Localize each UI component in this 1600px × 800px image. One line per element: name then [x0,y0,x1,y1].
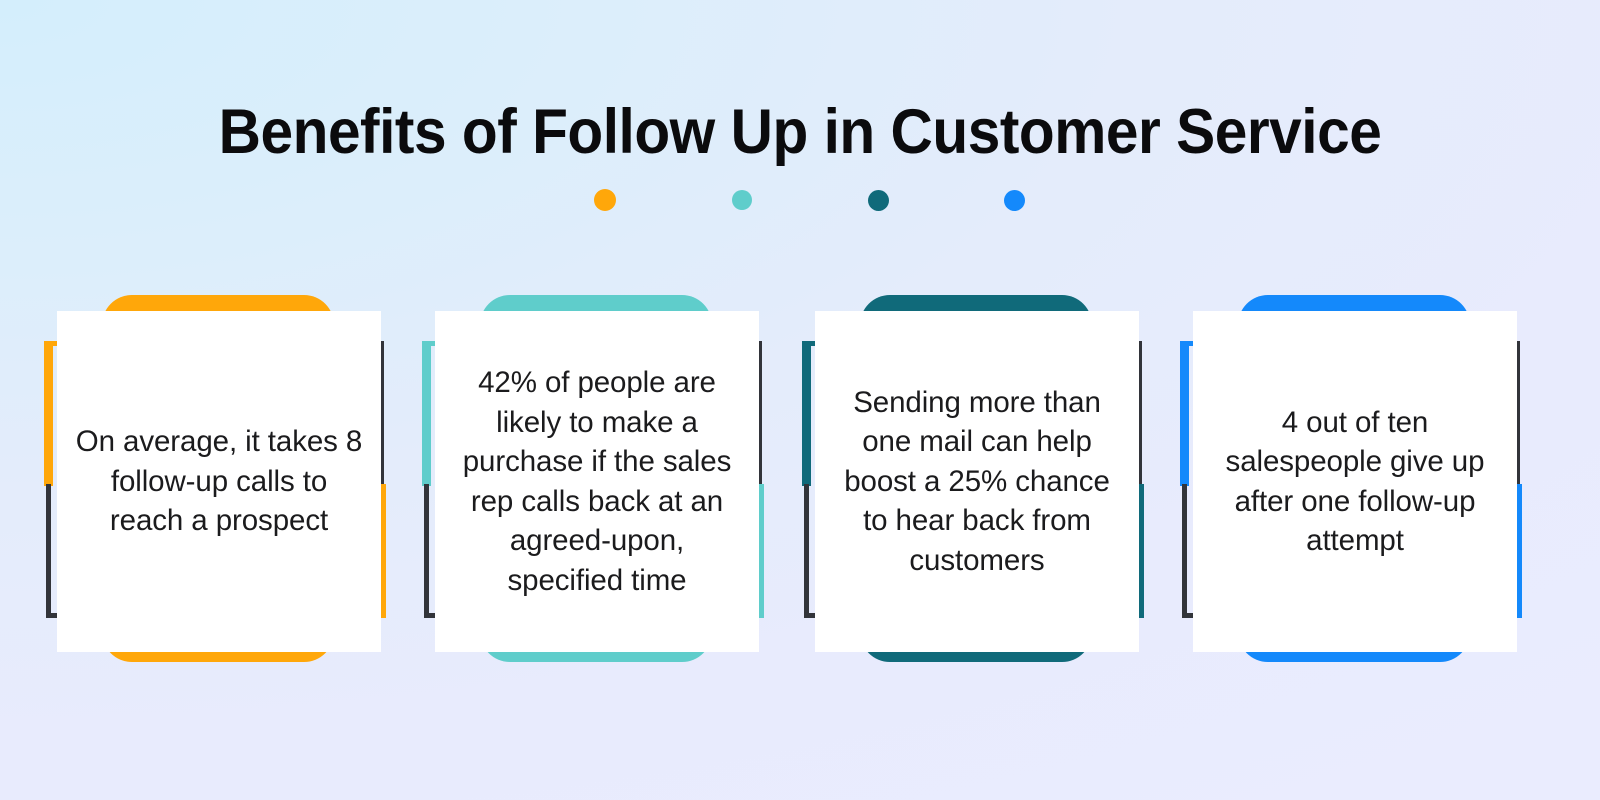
card-text: On average, it takes 8 follow-up calls t… [75,422,363,541]
bracket-rail-left-top [44,341,53,486]
card-sheet: 42% of people are likely to make a purch… [435,311,759,652]
bracket-rail-left-bottom [424,484,429,618]
card-text: 4 out of ten salespeople give up after o… [1211,403,1499,561]
card-text: 42% of people are likely to make a purch… [453,363,741,600]
benefit-card: 4 out of ten salespeople give up after o… [1176,0,1556,800]
benefit-card: On average, it takes 8 follow-up calls t… [40,0,420,800]
card-sheet: Sending more than one mail can help boos… [815,311,1139,652]
bracket-rail-left-bottom [46,484,51,618]
card-text: Sending more than one mail can help boos… [833,383,1121,581]
bracket-rail-left-top [1180,341,1189,486]
card-sheet: 4 out of ten salespeople give up after o… [1193,311,1517,652]
bracket-rail-left-top [422,341,431,486]
benefit-card-list: On average, it takes 8 follow-up calls t… [0,0,1600,800]
bracket-rail-left-top [802,341,811,486]
bracket-rail-left-bottom [804,484,809,618]
benefit-card: Sending more than one mail can help boos… [798,0,1178,800]
benefit-card: 42% of people are likely to make a purch… [418,0,798,800]
bracket-rail-left-bottom [1182,484,1187,618]
card-sheet: On average, it takes 8 follow-up calls t… [57,311,381,652]
